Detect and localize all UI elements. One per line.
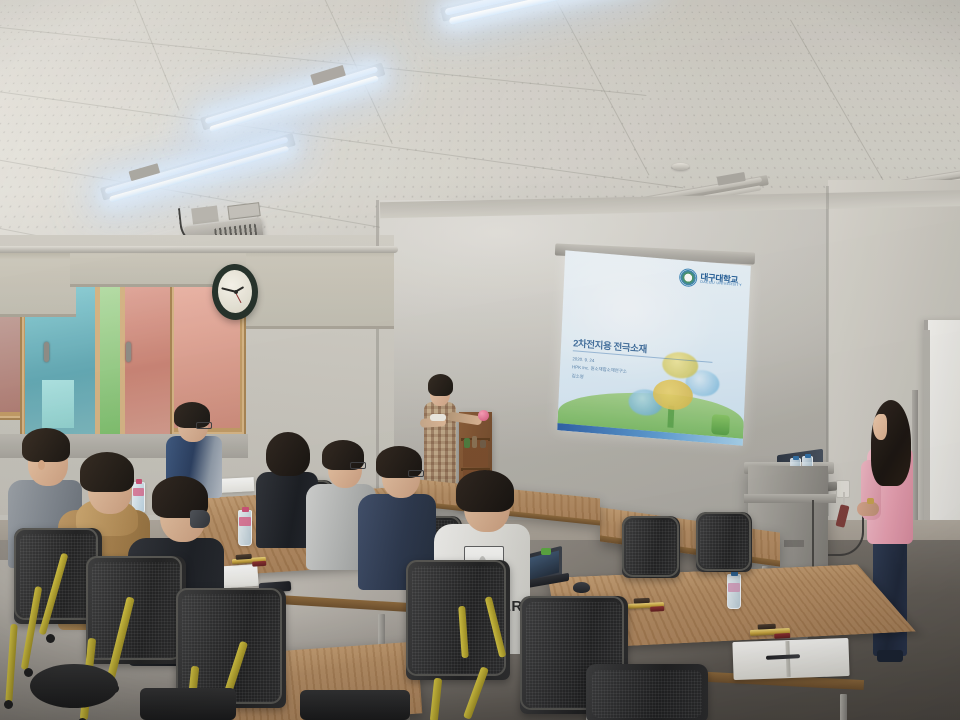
window-handle-right[interactable] [126,342,131,362]
attendee-7-glasses-icon [408,470,424,477]
university-logo-mark [679,268,698,287]
photo-scene: 대구대학교 DAEGU UNIVERSITY 2차전지용 전극소재 2020. … [0,0,960,720]
presenter-front-held-object-2 [430,414,446,421]
chair-seat-3[interactable] [300,690,410,720]
window-handle-left[interactable] [44,342,49,362]
chair-front-6[interactable] [586,664,716,720]
snack-stack-3[interactable] [750,623,791,641]
attendee-8-hair [456,470,514,512]
chair-seat-1[interactable] [30,664,118,708]
chair-frame-yellow-4 [412,666,522,720]
chair-frame-yellow-5 [452,596,542,666]
presenter-front-hair [428,374,453,396]
projected-slide: 대구대학교 DAEGU UNIVERSITY 2차전지용 전극소재 2020. … [557,250,751,445]
chair-rear-5[interactable] [696,512,752,596]
open-notebook[interactable] [732,638,849,680]
attendee-4-glasses-icon [196,422,212,429]
attendee-3-face-mask [190,510,210,528]
attendee-5-hair [266,432,310,476]
roller-blind-4[interactable] [246,248,394,329]
smoke-detector-icon [672,163,689,170]
podium-label-plate [784,540,804,547]
computer-mouse[interactable] [573,582,590,593]
presenter-right-face [873,414,887,440]
roller-blind-2[interactable] [70,250,190,287]
person-presenter-right [855,398,925,688]
university-logo-english: DAEGU UNIVERSITY [700,281,742,288]
presenter-right-hair [871,400,911,486]
roller-blind-1[interactable] [0,252,76,317]
slide-art-bush [711,414,730,435]
attendee-2-hair [80,452,134,492]
attendee-1-ear [38,460,45,470]
presenter-right-forearm [857,502,879,516]
presenter-right-watch [867,498,874,504]
slide-metadata: 2020. 9. 24 HPK Inc. 원소재합소재연구소 김소영 [571,355,627,385]
chair-seat-2[interactable] [140,688,236,720]
blind-roller-bar [0,246,398,253]
chair-rear-4[interactable] [622,516,680,602]
presenter-front-held-object [478,410,489,421]
